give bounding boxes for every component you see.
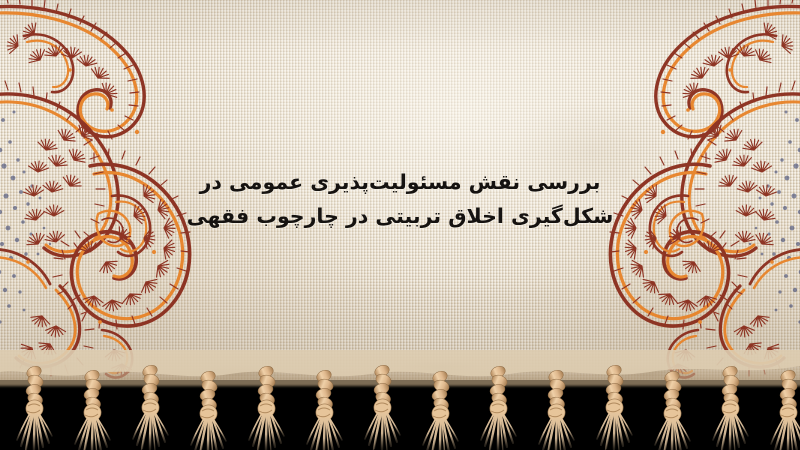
banner-canvas: بررسی نقش مسئولیت‌پذیری عمومی در شکل‌گیر… (0, 0, 800, 450)
paisley-motif-left (0, 0, 264, 380)
paisley-motif-right (536, 0, 800, 380)
knotted-tassel-fringe (0, 350, 800, 450)
tassel-row (17, 363, 800, 450)
